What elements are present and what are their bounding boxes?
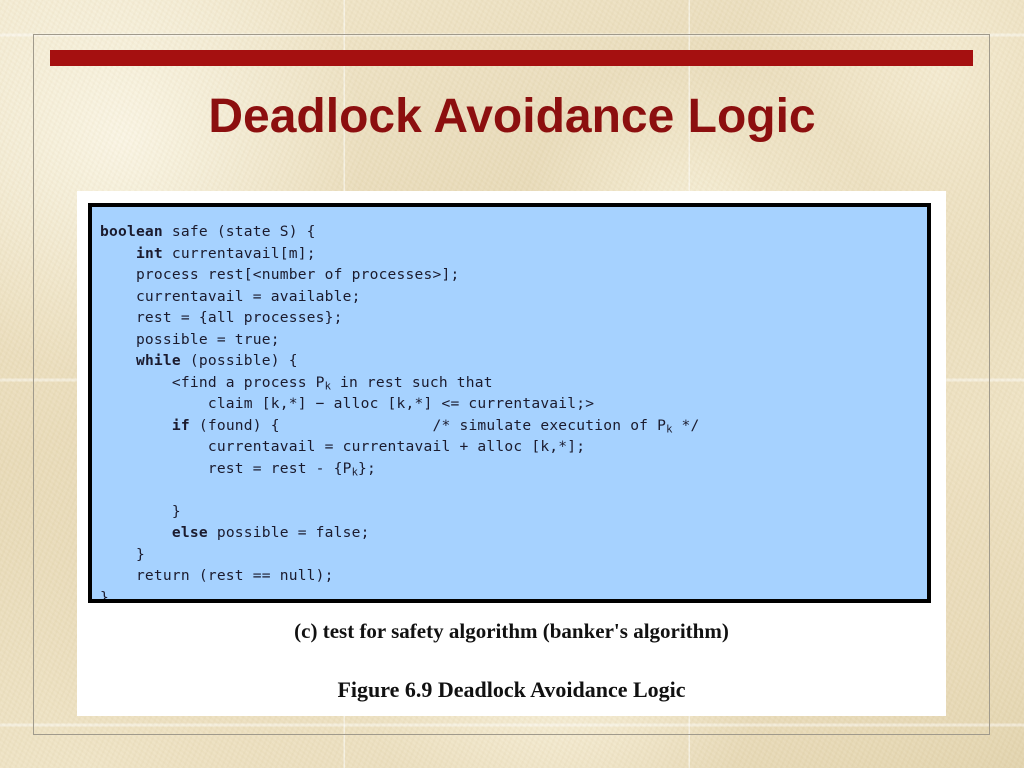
figure-panel: boolean safe (state S) { int currentavai… (77, 191, 946, 716)
figure-part-caption: (c) test for safety algorithm (banker's … (77, 619, 946, 644)
page-title: Deadlock Avoidance Logic (0, 88, 1024, 146)
slide-canvas: Deadlock Avoidance Logic boolean safe (s… (0, 0, 1024, 768)
title-accent-rule (50, 50, 973, 66)
figure-number-caption: Figure 6.9 Deadlock Avoidance Logic (77, 677, 946, 703)
code-listing: boolean safe (state S) { int currentavai… (100, 221, 923, 603)
code-block: boolean safe (state S) { int currentavai… (88, 203, 931, 603)
